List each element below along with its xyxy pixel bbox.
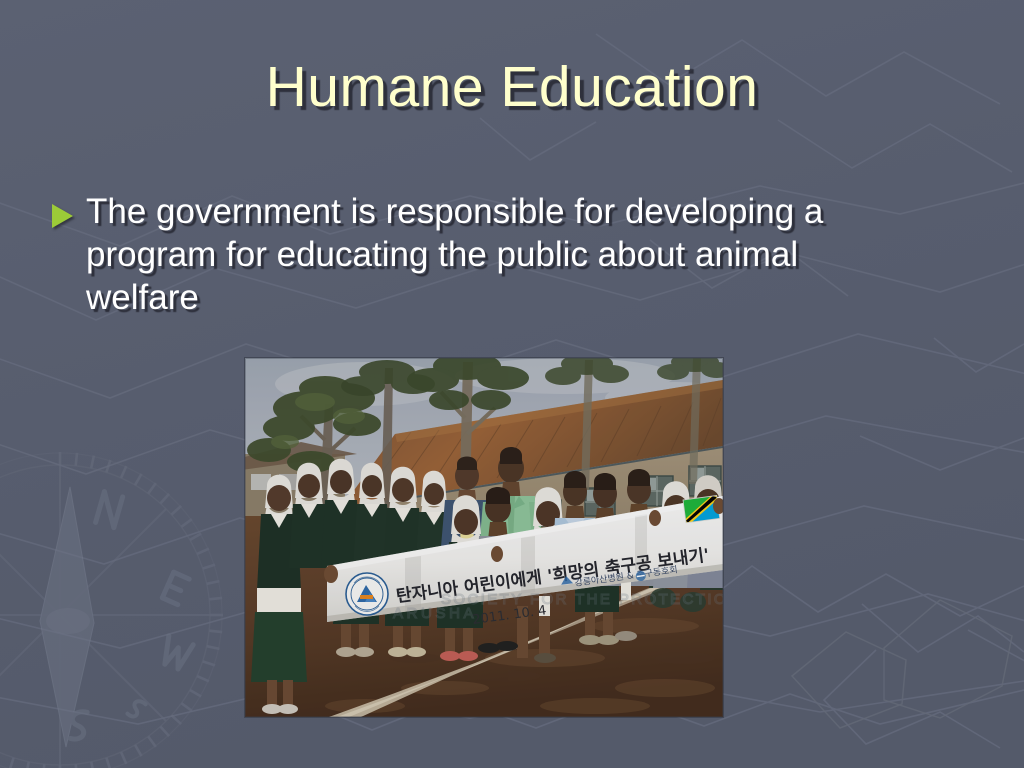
triangle-right-icon (52, 190, 86, 228)
list-item: The government is responsible for develo… (52, 190, 952, 320)
page-title: Humane Education (0, 57, 1024, 119)
photo-illustration: SOCIETY FOR THE PROTECTION ARUSHA 탄자니아 어… (245, 358, 723, 717)
tanzania-school-children-banner-photo: SOCIETY FOR THE PROTECTION ARUSHA 탄자니아 어… (245, 358, 723, 717)
bullet-text: The government is responsible for develo… (86, 190, 914, 320)
body-content: The government is responsible for develo… (52, 190, 952, 320)
compass-rose-watermark (0, 452, 223, 768)
slide-canvas: Humane Education The government is respo… (0, 0, 1024, 768)
